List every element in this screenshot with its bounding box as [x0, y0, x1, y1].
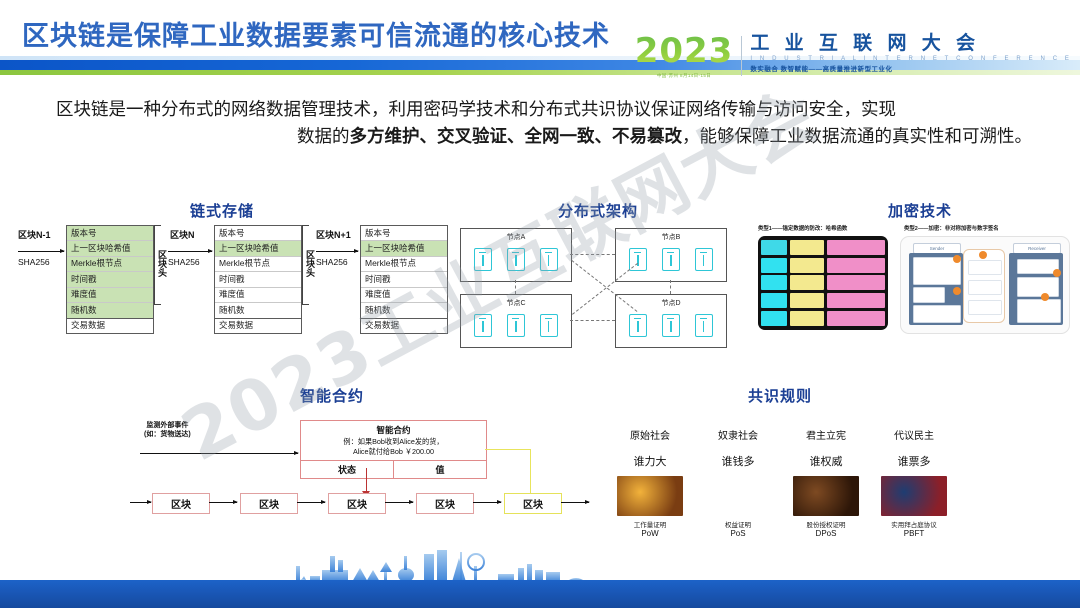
block-field: Merkle根节点 [215, 257, 301, 272]
block-field: 版本号 [215, 226, 301, 241]
sender-message-box [913, 305, 961, 323]
footer-skyline [0, 548, 1080, 608]
consensus-name-cn: 实用拜占庭协议 [874, 519, 954, 529]
section-title-encryption: 加密技术 [888, 200, 952, 221]
hash-output-cell [827, 240, 885, 255]
logo-tagline: 数实融合 数智赋能——高质量推进新型工业化 [750, 64, 1072, 73]
smart-contract-box-body: 例：如果Bob收到Alice发的货， Alice就付给Bob ￥200.00 [301, 436, 486, 460]
logo-conference-en: I N D U S T R I A L I N T E R N E T C O … [750, 56, 1072, 62]
document-icon [662, 314, 680, 337]
logo-year-sub: 中国·苏州 8月14日-15日 [635, 73, 734, 79]
section-title-smart-contract: 智能合约 [300, 385, 364, 406]
document-icon [695, 314, 713, 337]
external-event-line2: (如：货物送达) [144, 431, 191, 438]
block-field: 难度值 [361, 288, 447, 303]
hash-input-cell [761, 293, 787, 308]
block-field: 随机数 [361, 303, 447, 318]
consensus-illustration [617, 476, 683, 516]
slide-root: 区块链是保障工业数据要素可信流通的核心技术 2023 中国·苏州 8月14日-1… [0, 0, 1080, 608]
block-field: 上一区块哈希值 [67, 241, 153, 256]
consensus-name-cn: 工作量证明 [610, 519, 690, 529]
consensus-name-en: PoW [610, 529, 690, 538]
node-documents [616, 308, 726, 342]
sender-signature-box [913, 287, 945, 303]
chain-arrow-1 [168, 251, 212, 252]
hash-function-cell [790, 293, 824, 308]
document-icon [507, 248, 525, 271]
consensus-era: 奴隶社会 [698, 427, 778, 442]
consensus-question: 谁权威 [786, 453, 866, 469]
receiver-confirm-box [1017, 299, 1061, 323]
link-b-d [670, 280, 671, 294]
state-label: 状态 [301, 461, 394, 478]
node-a: 节点A [460, 228, 572, 282]
consensus-column: 原始社会谁力大工作量证明PoW [610, 427, 690, 538]
block-field: 时间戳 [67, 272, 153, 287]
consensus-rules-diagram: 原始社会谁力大工作量证明PoW奴隶社会谁钱多权益证明PoS君主立宪谁权威股份授权… [610, 405, 960, 525]
node-documents [616, 242, 726, 276]
link-a-b [570, 254, 615, 255]
hash-demo-row [761, 258, 885, 273]
consensus-column: 代议民主谁票多实用拜占庭协议PBFT [874, 427, 954, 538]
hash-function-panel [758, 236, 888, 330]
hash-input-cell [761, 240, 787, 255]
chain-block-label-0: 区块N-1 [18, 228, 51, 241]
logo-year: 2023 [635, 34, 734, 68]
document-icon [629, 314, 647, 337]
chain-block-4: 区块 [416, 493, 474, 514]
lead-line2-a: 数据的 [297, 126, 350, 146]
hash-demo-row [761, 275, 885, 290]
consensus-era: 君主立宪 [786, 427, 866, 442]
link-c-d [570, 320, 615, 321]
smart-contract-drop-line [366, 468, 367, 493]
consensus-name-cn: 权益证明 [698, 519, 778, 529]
chain-connector [385, 502, 413, 503]
smart-contract-box: 智能合约 例：如果Bob收到Alice发的货， Alice就付给Bob ￥200… [300, 420, 487, 479]
consensus-illustration [705, 476, 771, 516]
block-field: 时间戳 [215, 272, 301, 287]
consensus-column: 奴隶社会谁钱多权益证明PoS [698, 427, 778, 538]
node-label: 节点A [461, 232, 571, 242]
document-icon [474, 314, 492, 337]
step-badge-3 [979, 251, 987, 259]
external-event-label: 监测外部事件 (如：货物送达) [144, 421, 191, 440]
block-header-label-0: 区块头 [158, 251, 167, 279]
external-event-arrow [140, 453, 298, 454]
highlight-hook [485, 449, 531, 498]
block-n: 版本号上一区块哈希值Merkle根节点时间戳难度值随机数交易数据 [214, 225, 302, 334]
document-icon [695, 248, 713, 271]
lead-line2-bold: 多方维护、交叉验证、全网一致、不易篡改 [350, 126, 683, 146]
document-icon [507, 314, 525, 337]
encryption-caption-left: 类型1——锚定数据的防改：哈希函数 [758, 224, 847, 232]
step-badge-1 [953, 255, 961, 263]
hash-function-cell [790, 311, 824, 326]
chain-block-5: 区块 [504, 493, 562, 514]
node-d: 节点D [615, 294, 727, 348]
document-icon [540, 248, 558, 271]
step-badge-5 [1041, 293, 1049, 301]
link-a-c [515, 280, 516, 294]
block-field: 交易数据 [67, 319, 153, 333]
page-title: 区块链是保障工业数据要素可信流通的核心技术 [22, 14, 610, 53]
conference-logo: 2023 中国·苏州 8月14日-15日 工 业 互 联 网 大 会 I N D… [635, 34, 1072, 79]
transmission-column [963, 249, 1005, 323]
transmit-message [968, 300, 1002, 315]
consensus-name-cn: 股份授权证明 [786, 519, 866, 529]
hash-demo-row [761, 293, 885, 308]
lead-line2-b: ，能够保障工业数据流通的真实性和可溯性。 [682, 126, 1032, 146]
logo-conference-cn: 工 业 互 联 网 大 会 [750, 34, 1072, 54]
chain-connector-head [130, 502, 151, 503]
block-field: 时间戳 [361, 272, 447, 287]
value-label: 值 [394, 461, 486, 478]
block-field: 版本号 [67, 226, 153, 241]
distributed-architecture-diagram: 节点A 节点B 节点C 节点D [460, 228, 725, 346]
chain-sha-label-1: SHA256 [168, 257, 200, 267]
chain-connector-tail [561, 502, 589, 503]
chain-block-2: 区块 [240, 493, 298, 514]
block-field: 难度值 [215, 288, 301, 303]
hash-demo-row [761, 311, 885, 326]
encryption-caption-right: 类型2——加密：非对称加密与数字签名 [904, 224, 999, 232]
chain-block-label-2: 区块N+1 [316, 228, 351, 241]
lead-line1: 区块链是一种分布式的网络数据管理技术，利用密码学技术和分布式共识协议保证网络传输… [56, 99, 896, 119]
transmit-signature [968, 280, 1002, 295]
asymmetric-crypto-panel: Sender Receiver [900, 236, 1070, 334]
smart-contract-box-title: 智能合约 [301, 421, 486, 436]
receiver-verify-box [1017, 277, 1059, 297]
node-documents [461, 308, 571, 342]
encryption-diagram: 类型1——锚定数据的防改：哈希函数 类型2——加密：非对称加密与数字签名 Sen… [752, 220, 1074, 340]
hash-function-cell [790, 240, 824, 255]
block-field: 交易数据 [361, 319, 447, 333]
consensus-name-en: DPoS [786, 529, 866, 538]
step-badge-4 [1053, 269, 1061, 277]
consensus-illustration [793, 476, 859, 516]
block-field: 随机数 [67, 303, 153, 318]
smart-contract-diagram: 监测外部事件 (如：货物送达) 智能合约 例：如果Bob收到Alice发的货， … [130, 405, 580, 520]
consensus-question: 谁票多 [874, 453, 954, 469]
document-icon [474, 248, 492, 271]
consensus-name-en: PoS [698, 529, 778, 538]
consensus-question: 谁力大 [610, 453, 690, 469]
hash-input-cell [761, 311, 787, 326]
hash-function-cell [790, 258, 824, 273]
block-field: 上一区块哈希值 [361, 241, 447, 256]
chain-connector [209, 502, 237, 503]
lead-paragraph: 区块链是一种分布式的网络数据管理技术，利用密码学技术和分布式共识协议保证网络传输… [56, 96, 1032, 150]
hash-function-cell [790, 275, 824, 290]
chain-connector [473, 502, 501, 503]
consensus-column: 君主立宪谁权威股份授权证明DPoS [786, 427, 866, 538]
chain-block-label-1: 区块N [170, 228, 195, 241]
external-event-line1: 监测外部事件 [146, 422, 188, 429]
transmit-public-key [968, 260, 1002, 275]
chain-arrow-2 [316, 251, 358, 252]
hash-input-cell [761, 275, 787, 290]
block-n-minus-1: 版本号上一区块哈希值Merkle根节点时间戳难度值随机数交易数据 [66, 225, 154, 334]
hash-output-cell [827, 293, 885, 308]
chain-block-1: 区块 [152, 493, 210, 514]
node-c: 节点C [460, 294, 572, 348]
block-field: Merkle根节点 [361, 257, 447, 272]
step-badge-2 [953, 287, 961, 295]
node-label: 节点B [616, 232, 726, 242]
section-title-chain-storage: 链式存储 [190, 200, 254, 221]
hash-demo-row [761, 240, 885, 255]
consensus-era: 代议民主 [874, 427, 954, 442]
hash-output-cell [827, 258, 885, 273]
smart-contract-example-line1: 例：如果Bob收到Alice发的货， [343, 437, 443, 446]
consensus-question: 谁钱多 [698, 453, 778, 469]
document-icon [662, 248, 680, 271]
chain-connector [297, 502, 325, 503]
chain-storage-diagram: 区块N-1 SHA256 版本号上一区块哈希值Merkle根节点时间戳难度值随机… [18, 225, 438, 350]
node-documents [461, 242, 571, 276]
smart-contract-block-chain: 区块区块区块区块区块 [130, 493, 570, 515]
section-title-distributed: 分布式架构 [558, 200, 638, 221]
section-title-consensus: 共识规则 [748, 385, 812, 406]
consensus-illustration [881, 476, 947, 516]
document-icon [540, 314, 558, 337]
block-n-plus-1: 版本号上一区块哈希值Merkle根节点时间戳难度值随机数交易数据 [360, 225, 448, 334]
hash-output-cell [827, 311, 885, 326]
chain-block-3: 区块 [328, 493, 386, 514]
block-field: 随机数 [215, 303, 301, 318]
block-header-label-1: 区块头 [306, 251, 315, 279]
node-b: 节点B [615, 228, 727, 282]
consensus-name-en: PBFT [874, 529, 954, 538]
sea-band [0, 580, 1080, 608]
block-field: 版本号 [361, 226, 447, 241]
hash-input-cell [761, 258, 787, 273]
node-label: 节点C [461, 298, 571, 308]
consensus-era: 原始社会 [610, 427, 690, 442]
block-field: Merkle根节点 [67, 257, 153, 272]
logo-divider [741, 36, 742, 76]
chain-arrow-0 [18, 251, 64, 252]
block-field: 上一区块哈希值 [215, 241, 301, 256]
block-field: 难度值 [67, 288, 153, 303]
smart-contract-example-line2: Alice就付给Bob ￥200.00 [353, 447, 434, 456]
block-field: 交易数据 [215, 319, 301, 333]
hash-output-cell [827, 275, 885, 290]
chain-sha-label-2: SHA256 [316, 257, 348, 267]
smart-contract-footer: 状态 值 [301, 460, 486, 478]
chain-sha-label-0: SHA256 [18, 257, 50, 267]
